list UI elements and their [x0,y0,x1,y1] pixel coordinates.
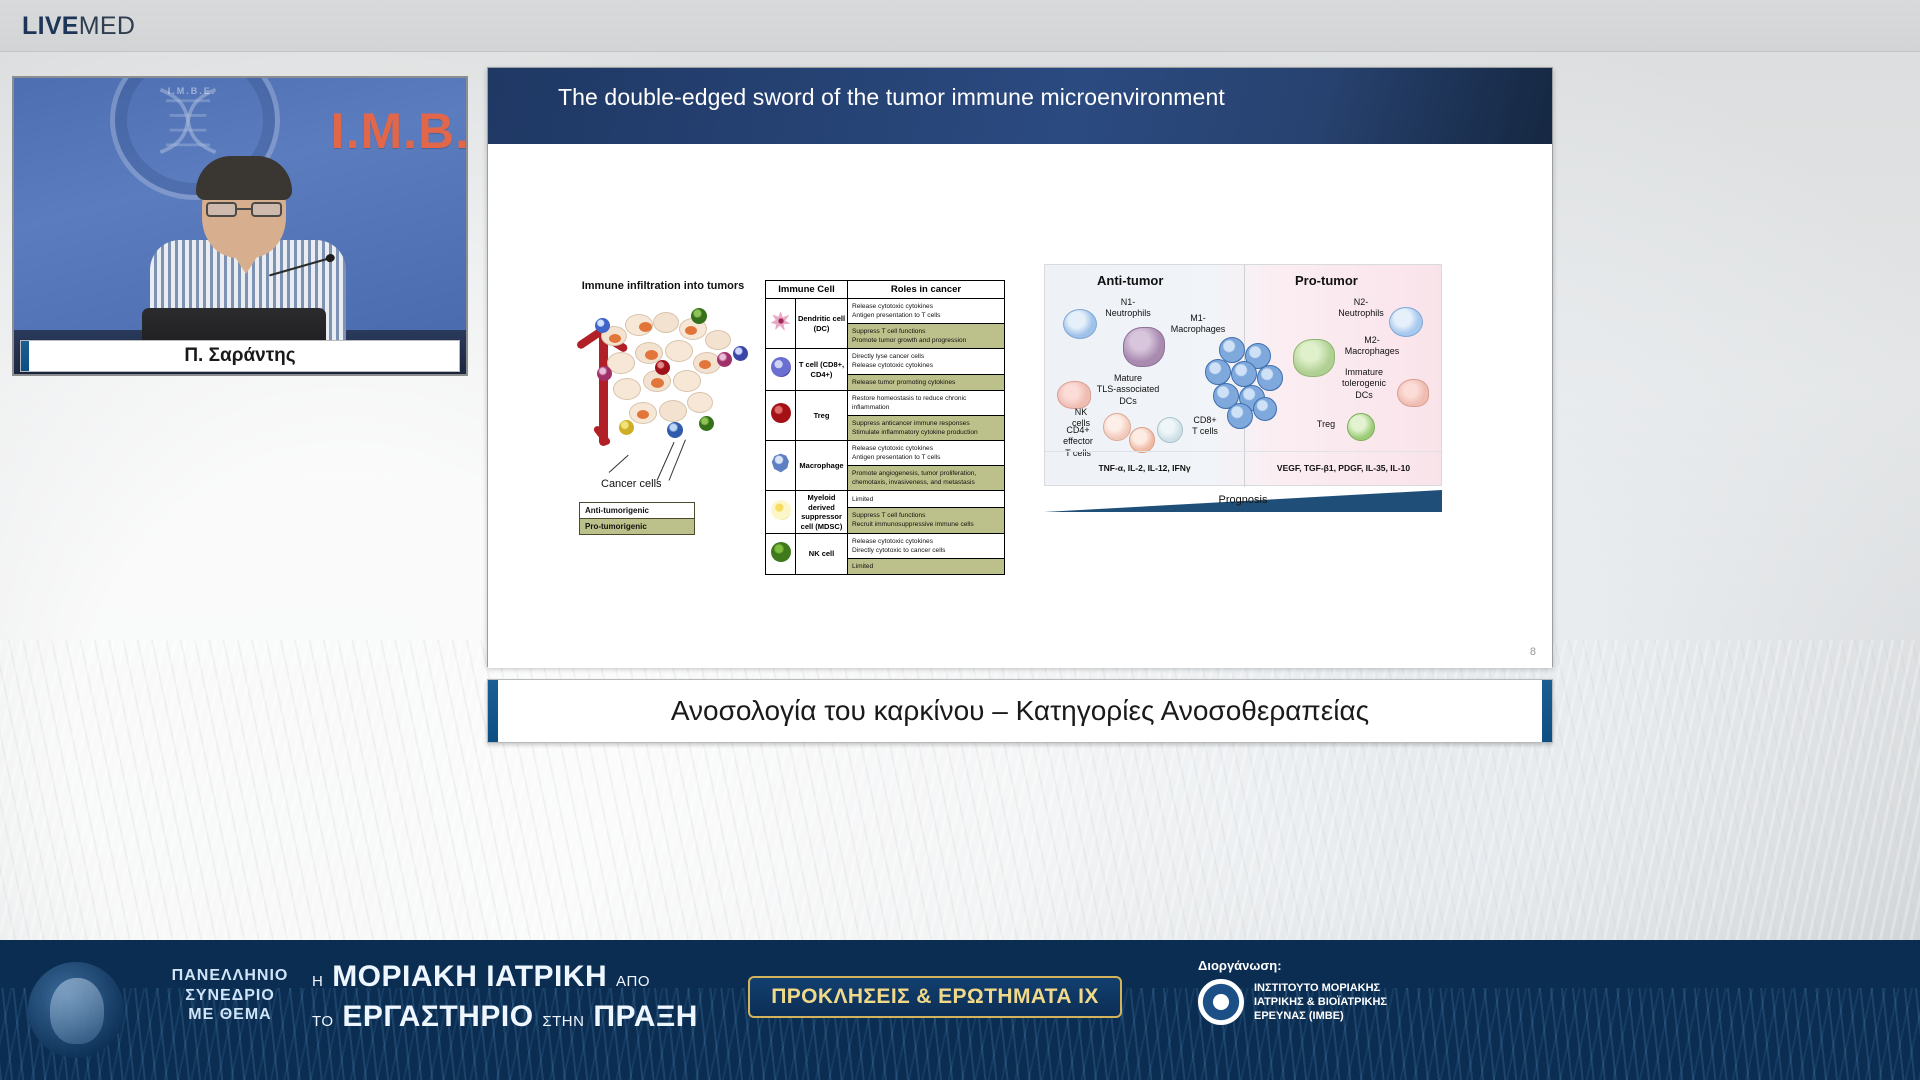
title-small-4: ΣΤΗΝ [542,1013,584,1030]
role-pro-tumorigenic: Promote angiogenesis, tumor proliferatio… [848,466,1005,491]
congress-line-1: ΠΑΝΕΛΛΗΝΙΟ [150,966,310,986]
immune-cell-name: Dendritic cell (DC) [796,299,848,349]
immune-cell-name: Treg [796,390,848,440]
slide-page-number: 8 [1530,646,1536,658]
congress-line-3: ΜΕ ΘΕΜΑ [150,1005,310,1025]
role-anti-tumorigenic: Release cytotoxic cytokines Antigen pres… [848,441,1005,466]
m2-macrophage-label: M2- Macrophages [1337,335,1407,358]
congress-subtitle: ΠΑΝΕΛΛΗΝΙΟ ΣΥΝΕΔΡΙΟ ΜΕ ΘΕΜΑ [150,966,310,1025]
role-pro-tumorigenic: Suppress T cell functions Recruit immuno… [848,507,1005,533]
role-anti-tumorigenic: Release cytotoxic cytokines Directly cyt… [848,533,1005,558]
organizer-label: Διοργάνωση: [1198,958,1387,973]
session-title: Ανοσολογία του καρκίνου – Κατηγορίες Ανο… [671,695,1369,727]
organizer-line-2: ΙΑΤΡΙΚΗΣ & ΒΙΟΪΑΤΡΙΚΗΣ [1254,995,1387,1009]
header-immune-cell: Immune Cell [766,281,848,299]
m2-macrophage-cell [1293,339,1335,377]
title-big-1: ΜΟΡΙΑΚΗ ΙΑΤΡΙΚΗ [332,960,607,993]
anti-pro-tumor-figure: Anti-tumor Pro-tumor N1- Neutrophils M1-… [1044,264,1442,514]
cytokine-strip: TNF-α, IL-2, IL-12, IFNγ VEGF, TGF-β1, P… [1045,451,1443,487]
mature-tls-dc-label: Mature TLS-associated DCs [1091,373,1165,407]
table-header-row: Immune Cell Roles in cancer [766,281,1005,299]
table-row: NK cellRelease cytotoxic cytokines Direc… [766,533,1005,558]
dendritic-cell-icon [766,299,796,349]
prognosis-label: Prognosis [1044,494,1442,506]
immune-cell-roles-table: Immune Cell Roles in cancer Dendritic ce… [765,280,1005,575]
pro-tumor-cytokines: VEGF, TGF-β1, PDGF, IL-35, IL-10 [1244,452,1443,487]
hippocrates-emblem-icon [28,962,124,1058]
cd4-effector-t-cell [1129,427,1155,453]
m1-macrophage-label: M1- Macrophages [1163,313,1233,336]
anti-tumor-label: Anti-tumor [1097,273,1163,288]
table-row: T cell (CD8+, CD4+)Directly lyse cancer … [766,349,1005,374]
immune-cell-name: Macrophage [796,441,848,491]
t-cell-icon [766,349,796,390]
mdsc-icon [766,491,796,534]
legend-anti-tumorigenic: Anti-tumorigenic [580,503,694,519]
treg-cell [1347,413,1375,441]
pro-tumor-label: Pro-tumor [1295,273,1358,288]
immature-tolerogenic-dc-cell [1397,379,1429,407]
mature-tls-dc-cell [1057,381,1091,409]
treg-label: Treg [1307,419,1345,430]
immune-cell-name: T cell (CD8+, CD4+) [796,349,848,390]
speaker-name-plate: Π. Σαράντης [20,340,460,372]
presentation-slide[interactable]: The double-edged sword of the tumor immu… [487,67,1553,667]
chip-text: ΠΡΟΚΛΗΣΕΙΣ & ΕΡΩΤΗΜΑΤΑ IX [771,985,1099,1009]
speaker-glasses [206,202,282,217]
tumor-mass-cluster [1197,337,1293,429]
role-pro-tumorigenic: Suppress anticancer immune responses Sti… [848,415,1005,440]
session-title-bar: Ανοσολογία του καρκίνου – Κατηγορίες Ανο… [487,679,1553,743]
backdrop-letters: I.M.B. [331,102,468,160]
table-row: TregRestore homeostasis to reduce chroni… [766,390,1005,415]
title-big-3: ΠΡΑΞΗ [593,1000,698,1033]
conference-edition-chip: ΠΡΟΚΛΗΣΕΙΣ & ΕΡΩΤΗΜΑΤΑ IX [748,976,1122,1018]
livemed-logo[interactable]: LIVEMED [22,14,135,39]
table-row: Myeloid derived suppressor cell (MDSC)Li… [766,491,1005,508]
slide-body: Immune infiltration into tumors [488,144,1552,668]
video-frame[interactable]: I.M.B.E. I.M.B. [12,76,468,376]
n2-neutrophil-label: N2- Neutrophils [1331,297,1391,320]
nk-cell [1103,413,1131,441]
organizer-name: ΙΝΣΤΙΤΟΥΤΟ ΜΟΡΙΑΚΗΣ ΙΑΤΡΙΚΗΣ & ΒΙΟΪΑΤΡΙΚ… [1254,981,1387,1024]
table-row: MacrophageRelease cytotoxic cytokines An… [766,441,1005,466]
imbe-logo-icon [1198,979,1244,1025]
cancer-cells-label: Cancer cells [601,478,662,490]
organizer-line-3: ΕΡΕΥΝΑΣ (ΙΜΒΕ) [1254,1009,1387,1023]
role-anti-tumorigenic: Release cytotoxic cytokines Antigen pres… [848,299,1005,324]
n1-neutrophil-cell [1063,309,1097,339]
title-small-3: ΤΟ [312,1013,334,1030]
tumorigenic-legend: Anti-tumorigenic Pro-tumorigenic [579,502,695,535]
role-pro-tumorigenic: Limited [848,559,1005,575]
m1-macrophage-cell [1123,327,1165,367]
congress-line-2: ΣΥΝΕΔΡΙΟ [150,986,310,1006]
immature-tolerogenic-dc-label: Immature tolerogenic DCs [1331,367,1397,401]
speaker-video-panel[interactable]: I.M.B.E. I.M.B. [12,76,468,376]
header-roles-in-cancer: Roles in cancer [848,281,1005,299]
tumor-cell-cluster [595,308,751,456]
speaker-hair [196,156,292,200]
n2-neutrophil-cell [1389,307,1423,337]
conference-footer: ΠΑΝΕΛΛΗΝΙΟ ΣΥΝΕΔΡΙΟ ΜΕ ΘΕΜΑ Η ΜΟΡΙΑΚΗ ΙΑ… [0,940,1920,1080]
anti-tumor-cytokines: TNF-α, IL-2, IL-12, IFNγ [1045,452,1244,487]
legend-pro-tumorigenic: Pro-tumorigenic [580,519,694,534]
nk-cell-icon [766,533,796,574]
title-big-2: ΕΡΓΑΣΤΗΡΙΟ [342,1000,533,1033]
top-bar: LIVEMED [0,0,1920,52]
role-anti-tumorigenic: Limited [848,491,1005,508]
treg-icon [766,390,796,440]
slide-title: The double-edged sword of the tumor immu… [558,82,1388,114]
organizer-line-1: ΙΝΣΤΙΤΟΥΤΟ ΜΟΡΙΑΚΗΣ [1254,981,1387,995]
tumor-microenvironment-panel: Anti-tumor Pro-tumor N1- Neutrophils M1-… [1044,264,1442,486]
role-anti-tumorigenic: Restore homeostasis to reduce chronic in… [848,390,1005,415]
organizer-block: Διοργάνωση: ΙΝΣΤΙΤΟΥΤΟ ΜΟΡΙΑΚΗΣ ΙΑΤΡΙΚΗΣ… [1198,958,1387,1025]
cd8-t-cell [1157,417,1183,443]
role-anti-tumorigenic: Directly lyse cancer cells Release cytot… [848,349,1005,374]
logo-light-text: MED [79,12,135,40]
immune-cell-name: Myeloid derived suppressor cell (MDSC) [796,491,848,534]
role-pro-tumorigenic: Release tumor promoting cytokines [848,374,1005,390]
logo-bold-text: LIVE [22,12,79,40]
macrophage-icon [766,441,796,491]
immune-cell-name: NK cell [796,533,848,574]
n1-neutrophil-label: N1- Neutrophils [1097,297,1159,320]
immune-infiltration-figure: Immune infiltration into tumors [573,280,753,580]
infiltration-figure-title: Immune infiltration into tumors [573,280,753,292]
role-pro-tumorigenic: Suppress T cell functions Promote tumor … [848,324,1005,349]
conference-title: Η ΜΟΡΙΑΚΗ ΙΑΤΡΙΚΗ ΑΠΟ ΤΟ ΕΡΓΑΣΤΗΡΙΟ ΣΤΗΝ… [312,960,712,1034]
title-small-1: Η [312,973,323,990]
title-small-2: ΑΠΟ [616,973,650,990]
speaker-name: Π. Σαράντης [184,345,295,367]
table-row: Dendritic cell (DC)Release cytotoxic cyt… [766,299,1005,324]
